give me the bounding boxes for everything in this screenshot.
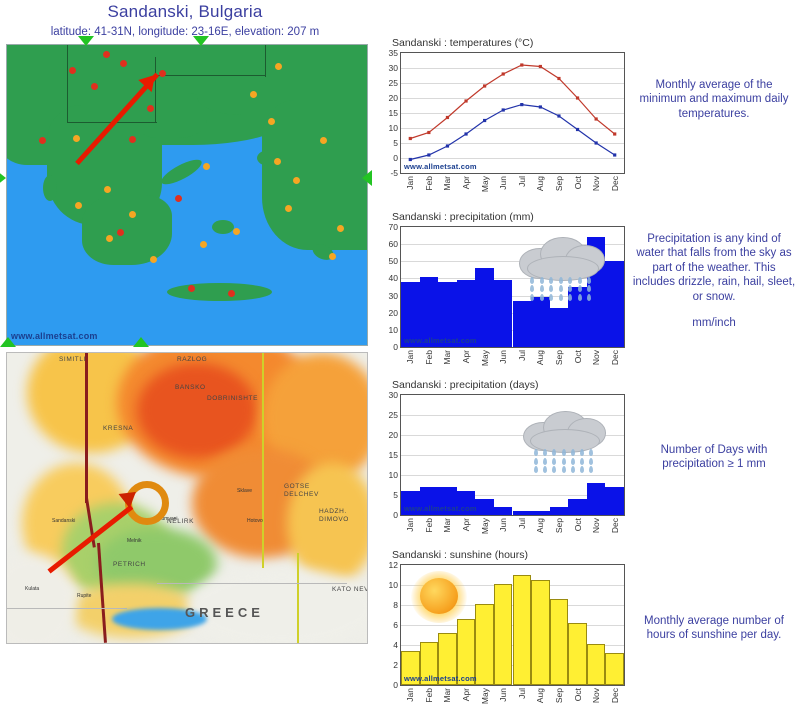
y-axis-tick-label: 10 bbox=[376, 470, 398, 480]
raindrop bbox=[589, 458, 593, 465]
series-point bbox=[557, 114, 560, 117]
raindrop bbox=[543, 458, 547, 465]
x-axis-tick-label: Oct bbox=[573, 176, 583, 189]
raindrop bbox=[589, 449, 593, 456]
country-border-line bbox=[265, 45, 266, 77]
x-axis-tick-label: Mar bbox=[442, 688, 452, 703]
raindrop bbox=[568, 294, 572, 301]
x-axis-tick-label: Dec bbox=[610, 688, 620, 703]
bar bbox=[531, 511, 550, 515]
series-point bbox=[576, 96, 579, 99]
series-line bbox=[410, 65, 614, 139]
bar bbox=[475, 499, 494, 515]
chart-title: Sandanski : precipitation (days) bbox=[392, 379, 539, 391]
x-axis-tick-label: May bbox=[480, 176, 490, 192]
x-axis-tick-label: Sep bbox=[554, 688, 564, 703]
x-axis-tick-label: Sep bbox=[554, 176, 564, 191]
raindrop bbox=[552, 458, 556, 465]
y-axis-tick-label: 8 bbox=[376, 600, 398, 610]
place-label: DELCHEV bbox=[284, 491, 319, 498]
x-axis-tick-label: Apr bbox=[461, 176, 471, 189]
x-axis-tick-label: Aug bbox=[535, 688, 545, 703]
raindrop bbox=[534, 449, 538, 456]
series-point bbox=[576, 128, 579, 131]
series-point bbox=[502, 72, 505, 75]
y-axis-tick-label: 20 bbox=[376, 308, 398, 318]
station-marker[interactable] bbox=[91, 83, 98, 90]
x-axis-tick-label: Feb bbox=[424, 176, 434, 191]
raindrop bbox=[540, 277, 544, 284]
y-axis-tick-label: 0 bbox=[376, 342, 398, 352]
y-axis-tick-label: 25 bbox=[376, 410, 398, 420]
x-axis-tick-label: Feb bbox=[424, 518, 434, 533]
bar bbox=[475, 268, 494, 347]
raindrop bbox=[568, 285, 572, 292]
station-marker[interactable] bbox=[75, 202, 82, 209]
y-axis-tick-label: 30 bbox=[376, 390, 398, 400]
raindrop bbox=[534, 458, 538, 465]
line-series-group bbox=[401, 53, 624, 173]
chart-watermark: www.allmetsat.com bbox=[404, 336, 477, 345]
place-label: Sklave bbox=[237, 488, 252, 494]
x-axis-tick-label: Mar bbox=[442, 350, 452, 365]
chart-watermark: www.allmetsat.com bbox=[404, 504, 477, 513]
series-point bbox=[483, 119, 486, 122]
raindrop bbox=[562, 458, 566, 465]
station-marker[interactable] bbox=[175, 195, 182, 202]
series-point bbox=[446, 144, 449, 147]
y-axis-tick-label: 2 bbox=[376, 660, 398, 670]
x-axis-tick-label: Mar bbox=[442, 176, 452, 191]
series-point bbox=[427, 153, 430, 156]
x-axis-tick-label: May bbox=[480, 350, 490, 366]
series-point bbox=[409, 137, 412, 140]
chart-temperatures: Sandanski : temperatures (°C) -505101520… bbox=[378, 38, 628, 200]
y-axis-tick-label: 60 bbox=[376, 239, 398, 249]
x-axis-tick-label: Jun bbox=[498, 350, 508, 364]
series-point bbox=[502, 108, 505, 111]
x-axis-tick-label: Nov bbox=[591, 350, 601, 365]
place-label: GOTSE bbox=[284, 483, 310, 490]
y-axis-tick-label: 20 bbox=[376, 430, 398, 440]
x-axis-tick-label: Oct bbox=[573, 350, 583, 363]
place-label: BANSKO bbox=[175, 384, 206, 391]
chart-title: Sandanski : temperatures (°C) bbox=[392, 37, 533, 49]
regional-locator-map[interactable]: www.allmetsat.com bbox=[6, 44, 368, 346]
map-pan-up-marker[interactable] bbox=[193, 36, 209, 46]
series-point bbox=[464, 99, 467, 102]
page-subtitle: latitude: 41-31N, longitude: 23-16E, ele… bbox=[0, 26, 370, 38]
raindrop bbox=[549, 294, 553, 301]
chart-precipitation-days: Sandanski : precipitation (days) 0510152… bbox=[378, 380, 628, 542]
y-axis-tick-label: 0 bbox=[376, 153, 398, 163]
note-precipitation-days: Number of Days with precipitation ≥ 1 mm bbox=[632, 443, 796, 472]
station-marker[interactable] bbox=[129, 211, 136, 218]
station-marker[interactable] bbox=[250, 91, 257, 98]
minor-road bbox=[157, 583, 347, 584]
place-label: Melnik bbox=[127, 538, 141, 544]
y-axis-tick-label: 10 bbox=[376, 580, 398, 590]
raindrop bbox=[540, 285, 544, 292]
place-label: Hotovo bbox=[247, 518, 263, 524]
station-marker[interactable] bbox=[329, 253, 336, 260]
page-title: Sandanski, Bulgaria bbox=[0, 2, 370, 22]
station-marker[interactable] bbox=[200, 241, 207, 248]
x-axis-tick-label: Jan bbox=[405, 176, 415, 190]
rain-cloud-icon bbox=[519, 235, 605, 302]
bar bbox=[475, 604, 494, 685]
series-point bbox=[557, 77, 560, 80]
x-axis-tick-label: Jul bbox=[517, 176, 527, 187]
station-marker[interactable] bbox=[104, 186, 111, 193]
place-label: HADZH. bbox=[319, 508, 347, 515]
series-point bbox=[464, 132, 467, 135]
station-marker[interactable] bbox=[337, 225, 344, 232]
y-axis-tick-label: 15 bbox=[376, 108, 398, 118]
x-axis-tick-label: Jul bbox=[517, 350, 527, 361]
x-axis-tick-label: Aug bbox=[535, 176, 545, 191]
raindrop bbox=[580, 449, 584, 456]
bar bbox=[550, 507, 569, 515]
x-axis-tick-label: Sep bbox=[554, 518, 564, 533]
series-point bbox=[483, 84, 486, 87]
raindrop bbox=[580, 458, 584, 465]
station-marker[interactable] bbox=[120, 60, 127, 67]
x-axis-tick-label: Nov bbox=[591, 688, 601, 703]
country-border-line bbox=[67, 45, 68, 123]
raindrop bbox=[549, 285, 553, 292]
map-pan-down-marker[interactable] bbox=[0, 337, 16, 347]
series-point bbox=[539, 105, 542, 108]
raindrop bbox=[587, 285, 591, 292]
place-label: PETRICH bbox=[113, 561, 146, 568]
climate-page: Sandanski, Bulgaria latitude: 41-31N, lo… bbox=[0, 0, 800, 714]
map-watermark: www.allmetsat.com bbox=[11, 331, 98, 341]
raindrop bbox=[578, 285, 582, 292]
rain-cloud-icon bbox=[523, 409, 606, 473]
chart-title: Sandanski : sunshine (hours) bbox=[392, 549, 528, 561]
sun-icon bbox=[420, 578, 458, 614]
station-marker[interactable] bbox=[117, 229, 124, 236]
plot-area: 010203040506070JanFebMarAprMayJunJulAugS… bbox=[400, 226, 625, 348]
x-axis-tick-label: Mar bbox=[442, 518, 452, 533]
raindrop bbox=[571, 466, 575, 473]
place-label: KATO NEVR. bbox=[332, 586, 368, 593]
series-point bbox=[409, 158, 412, 161]
raindrop bbox=[540, 294, 544, 301]
bar bbox=[494, 584, 513, 685]
y-axis-tick-label: 20 bbox=[376, 93, 398, 103]
place-label: KRESNA bbox=[103, 425, 133, 432]
y-axis-tick-label: 6 bbox=[376, 620, 398, 630]
note-temperature: Monthly average of the minimum and maxim… bbox=[632, 78, 796, 121]
y-axis-tick-label: 5 bbox=[376, 138, 398, 148]
bar bbox=[605, 653, 624, 685]
x-axis-tick-label: Jun bbox=[498, 688, 508, 702]
series-point bbox=[520, 63, 523, 66]
x-axis-tick-label: Dec bbox=[610, 518, 620, 533]
station-marker[interactable] bbox=[150, 256, 157, 263]
x-axis-tick-label: Dec bbox=[610, 176, 620, 191]
bar bbox=[494, 507, 513, 515]
station-marker[interactable] bbox=[188, 285, 195, 292]
x-axis-tick-label: Jan bbox=[405, 688, 415, 702]
x-axis-tick-label: Oct bbox=[573, 688, 583, 701]
series-point bbox=[613, 132, 616, 135]
x-axis-tick-label: Nov bbox=[591, 518, 601, 533]
x-axis-tick-label: Apr bbox=[461, 350, 471, 363]
topographic-detail-map[interactable]: SIMITLI RAZLOG BANSKO DOBRINISHTE KRESNA… bbox=[6, 352, 368, 644]
bar bbox=[550, 599, 569, 685]
x-axis-tick-label: May bbox=[480, 688, 490, 704]
series-point bbox=[595, 117, 598, 120]
series-point bbox=[613, 153, 616, 156]
station-marker[interactable] bbox=[233, 228, 240, 235]
bar bbox=[605, 261, 624, 347]
raindrop bbox=[571, 449, 575, 456]
x-axis-tick-label: Feb bbox=[424, 688, 434, 703]
series-line bbox=[410, 105, 614, 160]
x-axis-tick-label: Jan bbox=[405, 350, 415, 364]
chart-watermark: www.allmetsat.com bbox=[404, 162, 477, 171]
series-point bbox=[520, 103, 523, 106]
bar bbox=[587, 644, 606, 685]
y-axis-tick-label: 30 bbox=[376, 63, 398, 73]
bar bbox=[494, 280, 513, 347]
bar bbox=[531, 580, 550, 685]
station-marker[interactable] bbox=[159, 70, 166, 77]
bar bbox=[587, 483, 606, 515]
place-label: DOBRINISHTE bbox=[207, 395, 258, 402]
station-marker[interactable] bbox=[275, 63, 282, 70]
landmass-island-cyclades bbox=[212, 220, 234, 234]
x-axis-tick-label: May bbox=[480, 518, 490, 534]
x-axis-tick-label: Aug bbox=[535, 518, 545, 533]
x-axis-tick-label: Feb bbox=[424, 350, 434, 365]
raindrop bbox=[534, 466, 538, 473]
landmass-anatolia bbox=[262, 100, 368, 250]
x-axis-tick-label: Sep bbox=[554, 350, 564, 365]
raindrop bbox=[530, 294, 534, 301]
raindrop bbox=[562, 449, 566, 456]
raindrop bbox=[543, 466, 547, 473]
y-axis-tick-label: 0 bbox=[376, 510, 398, 520]
y-axis-tick-label: 40 bbox=[376, 273, 398, 283]
station-marker[interactable] bbox=[285, 205, 292, 212]
station-marker[interactable] bbox=[268, 118, 275, 125]
x-axis-tick-label: Nov bbox=[591, 176, 601, 191]
note-precipitation: Precipitation is any kind of water that … bbox=[632, 232, 796, 304]
bar bbox=[568, 499, 587, 515]
relief-shading bbox=[287, 463, 368, 583]
raindrop bbox=[580, 466, 584, 473]
note-sunshine: Monthly average number of hours of sunsh… bbox=[632, 614, 796, 643]
note-precipitation-units: mm/inch bbox=[632, 316, 796, 330]
landmass-peloponnese bbox=[82, 195, 172, 265]
chart-title: Sandanski : precipitation (mm) bbox=[392, 211, 534, 223]
series-point bbox=[427, 131, 430, 134]
raindrop bbox=[578, 277, 582, 284]
bar bbox=[513, 511, 532, 515]
y-axis-tick-label: 10 bbox=[376, 325, 398, 335]
station-marker[interactable] bbox=[39, 137, 46, 144]
bar bbox=[513, 301, 532, 347]
y-axis-tick-label: 10 bbox=[376, 123, 398, 133]
x-axis-tick-label: Jan bbox=[405, 518, 415, 532]
bar bbox=[605, 487, 624, 515]
x-axis-tick-label: Apr bbox=[461, 518, 471, 531]
chart-precipitation-mm: Sandanski : precipitation (mm) 010203040… bbox=[378, 212, 628, 374]
x-axis-tick-label: Jun bbox=[498, 176, 508, 190]
place-label: Kulata bbox=[25, 586, 39, 592]
raindrop bbox=[562, 466, 566, 473]
x-axis-tick-label: Aug bbox=[535, 350, 545, 365]
country-border-line bbox=[155, 75, 265, 76]
bar bbox=[531, 297, 550, 347]
station-marker[interactable] bbox=[147, 105, 154, 112]
plot-area: 051015202530JanFebMarAprMayJunJulAugSepO… bbox=[400, 394, 625, 516]
raindrop bbox=[587, 294, 591, 301]
raindrop bbox=[559, 277, 563, 284]
station-marker[interactable] bbox=[73, 135, 80, 142]
raindrop bbox=[552, 466, 556, 473]
place-label: DIMOVO bbox=[319, 516, 349, 523]
raindrop bbox=[578, 294, 582, 301]
station-marker[interactable] bbox=[106, 235, 113, 242]
country-border-line bbox=[155, 57, 156, 123]
series-point bbox=[446, 116, 449, 119]
raindrop bbox=[587, 277, 591, 284]
station-marker[interactable] bbox=[129, 136, 136, 143]
x-axis-tick-label: Jul bbox=[517, 688, 527, 699]
country-label: GREECE bbox=[185, 605, 264, 620]
x-axis-tick-label: Dec bbox=[610, 350, 620, 365]
y-axis-tick-label: 5 bbox=[376, 490, 398, 500]
place-label: RAZLOG bbox=[177, 356, 207, 363]
x-axis-tick-label: Oct bbox=[573, 518, 583, 531]
chart-watermark: www.allmetsat.com bbox=[404, 674, 477, 683]
bar bbox=[513, 575, 532, 685]
plot-area: -505101520253035JanFebMarAprMayJunJulAug… bbox=[400, 52, 625, 174]
plot-area: 024681012JanFebMarAprMayJunJulAugSepOctN… bbox=[400, 564, 625, 686]
y-axis-tick-label: 12 bbox=[376, 560, 398, 570]
landmass-chalkidiki bbox=[137, 93, 207, 138]
relief-shading bbox=[137, 363, 257, 458]
raindrop bbox=[530, 285, 534, 292]
station-marker[interactable] bbox=[69, 67, 76, 74]
x-axis-tick-label: Jun bbox=[498, 518, 508, 532]
y-axis-tick-label: 15 bbox=[376, 450, 398, 460]
y-axis-tick-label: 35 bbox=[376, 48, 398, 58]
station-marker[interactable] bbox=[274, 158, 281, 165]
secondary-road bbox=[262, 353, 264, 568]
series-point bbox=[595, 141, 598, 144]
map-pan-down-marker[interactable] bbox=[133, 337, 149, 347]
station-marker[interactable] bbox=[320, 137, 327, 144]
series-point bbox=[539, 65, 542, 68]
raindrop bbox=[559, 294, 563, 301]
secondary-road bbox=[297, 553, 299, 644]
place-label: Rupite bbox=[77, 593, 91, 599]
y-axis-tick-label: -5 bbox=[376, 168, 398, 178]
y-axis-tick-label: 25 bbox=[376, 78, 398, 88]
main-road bbox=[85, 353, 88, 503]
y-axis-tick-label: 50 bbox=[376, 256, 398, 266]
raindrop bbox=[589, 466, 593, 473]
y-axis-tick-label: 4 bbox=[376, 640, 398, 650]
y-axis-tick-label: 0 bbox=[376, 680, 398, 690]
place-label: SIMITLI bbox=[59, 356, 86, 363]
bar bbox=[550, 308, 569, 347]
landmass-island-corfu bbox=[43, 175, 57, 201]
x-axis-tick-label: Jul bbox=[517, 518, 527, 529]
gridline bbox=[401, 475, 624, 476]
y-axis-tick-label: 30 bbox=[376, 291, 398, 301]
raindrop bbox=[543, 449, 547, 456]
chart-sunshine-hours: Sandanski : sunshine (hours) 024681012Ja… bbox=[378, 550, 628, 712]
map-pan-up-marker[interactable] bbox=[78, 36, 94, 46]
station-marker[interactable] bbox=[293, 177, 300, 184]
raindrop bbox=[571, 458, 575, 465]
y-axis-tick-label: 70 bbox=[376, 222, 398, 232]
minor-road bbox=[7, 608, 127, 609]
x-axis-tick-label: Apr bbox=[461, 688, 471, 701]
station-marker[interactable] bbox=[228, 290, 235, 297]
map-pan-right-marker[interactable] bbox=[362, 170, 372, 186]
raindrop bbox=[559, 285, 563, 292]
raindrop bbox=[552, 449, 556, 456]
landmass-crete bbox=[167, 283, 272, 301]
station-marker[interactable] bbox=[103, 51, 110, 58]
bar bbox=[568, 623, 587, 685]
place-label: Sandanski bbox=[52, 518, 75, 524]
station-marker[interactable] bbox=[203, 163, 210, 170]
map-pan-left-marker[interactable] bbox=[0, 170, 6, 186]
